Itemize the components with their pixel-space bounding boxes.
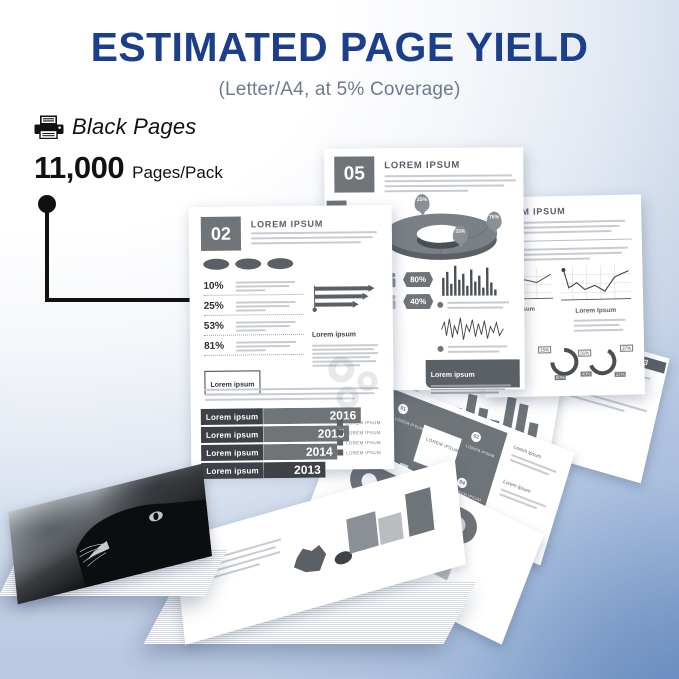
legend-label-1: LOREM IPSUM [346,420,381,425]
donut-pin-4: 33% [453,226,468,244]
year-bar-value-4: 2013 [264,462,326,479]
page-yield-unit: Pages/Pack [132,163,223,183]
ring-pct-4: 40% [581,371,592,376]
page02-year-bar-2015: Lorem ipsum 2015 [201,425,350,443]
page02-pct-2: 25% [204,301,230,312]
legend-swatch-1 [337,419,343,425]
page02-year-bar-2014: Lorem ipsum 2014 [201,444,338,461]
printer-icon [34,115,64,139]
page02-sub-heading: Lorem ipsum [312,331,356,338]
page02-pct-row-4: 81% [204,335,304,356]
gears-decoration [319,347,390,418]
page02-number: 02 [201,217,241,251]
page02-legend: LOREM IPSUM LOREM IPSUM LOREM IPSUM LORE… [337,419,381,459]
document-page-02: 02 LOREM IPSUM 10% 25% [189,205,395,471]
ring-pct-2: 50% [555,375,566,380]
page02-pct-4: 81% [204,341,230,352]
ring-pct-1: 15% [538,346,551,353]
page02-arrow-bars [311,283,379,314]
year-bar-value-3: 2014 [264,444,338,461]
donut-pin-3: 76% [487,211,502,229]
year-bar-label-2: Lorem ipsum [201,426,264,443]
ring-pct-3: 31% [578,349,591,356]
paper-stack-photo [2,488,232,628]
leader-horizontal-line [45,298,203,302]
page-yield-value: 11,000 [34,150,124,186]
legend-label-4: LOREM IPSUM [346,450,381,455]
tile-caption-2: LOREM IPSUM [465,443,495,459]
page02-puck-3 [267,258,293,269]
legend-label-3: LOREM IPSUM [346,440,381,445]
ring-pct-6: 22% [615,372,626,377]
legend-swatch-2 [337,429,343,435]
tile-number-01: 01 [397,402,409,415]
page05-hex-badge-40: 40% [403,294,433,309]
page02-heading: LOREM IPSUM [251,219,323,230]
page05-hex-badge-80: 80% [403,272,433,287]
page03-ring-gauges: 15% 50% 31% 40% 37% 22% [540,340,637,382]
tile-number-02: 02 [470,430,482,443]
black-pages-label: Black Pages [72,114,197,140]
legend-swatch-4 [337,449,343,455]
black-pages-callout: Black Pages 11,000 Pages/Pack [34,114,223,186]
year-bar-label-3: Lorem ipsum [201,444,264,461]
page-subtitle: (Letter/A4, at 5% Coverage) [0,79,679,101]
page02-pct-3: 53% [204,321,230,332]
page02-pct-1: 10% [203,281,229,292]
legend-swatch-3 [337,439,343,445]
legend-label-2: LOREM IPSUM [346,430,381,435]
year-bar-label-1: Lorem ipsum [201,408,264,425]
page05-bar-chart [441,263,499,295]
leader-vertical-line [45,204,49,302]
tile-caption-1: LOREM IPSUM [394,416,424,432]
page05-heading: LOREM IPSUM [384,160,460,172]
year-bar-label-4: Lorem ipsum [201,462,264,479]
page05-footer-tag: Lorem ipsum [431,372,475,379]
page02-year-bar-2013: Lorem ipsum 2013 [201,462,326,479]
page02-pct-row-3: 53% [204,315,304,336]
page03-line-chart-large [560,265,631,304]
donut-pin-1: 25% [414,194,429,212]
infographic-stage: ESTIMATED PAGE YIELD (Letter/A4, at 5% C… [0,0,679,679]
map-shape [292,542,327,578]
page-title: ESTIMATED PAGE YIELD [0,24,679,71]
ring-pct-5: 37% [620,345,633,352]
page02-puck-2 [235,258,261,269]
page05-number: 05 [334,156,374,192]
page02-puck-1 [203,259,229,270]
page05-waveform-chart [441,315,503,341]
page03-chart-caption-2: Lorem Ipsum [575,307,616,315]
page02-pct-row-1: 10% [203,280,303,296]
page02-pct-row-2: 25% [204,295,304,316]
